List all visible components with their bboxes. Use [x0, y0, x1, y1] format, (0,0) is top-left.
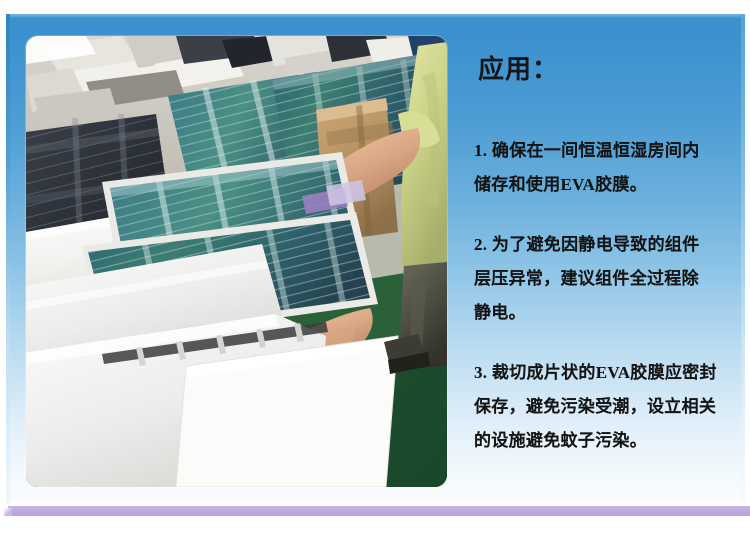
application-item-1: 1. 确保在一间恒温恒湿房间内 储存和使用EVA胶膜。	[474, 134, 734, 202]
panel-right-edge	[741, 14, 745, 503]
panel-top-highlight	[6, 14, 745, 18]
application-item-3-line-1: 3. 裁切成片状的EVA胶膜应密封	[474, 356, 734, 390]
application-item-2-line-3: 静电。	[474, 296, 734, 330]
application-item-2-line-2: 层压异常，建议组件全过程除	[474, 262, 734, 296]
panel-left-edge	[6, 14, 10, 503]
application-item-2-line-1: 2. 为了避免因静电导致的组件	[474, 228, 734, 262]
accent-divider-left-tip	[4, 508, 12, 516]
application-item-3-line-2: 保存，避免污染受潮，设立相关	[474, 390, 734, 424]
application-item-1-line-1: 1. 确保在一间恒温恒湿房间内	[474, 134, 734, 168]
page-title: 应用：	[478, 56, 734, 82]
application-item-2: 2. 为了避免因静电导致的组件 层压异常，建议组件全过程除 静电。	[474, 228, 734, 330]
product-detail-page: 应用： 1. 确保在一间恒温恒湿房间内 储存和使用EVA胶膜。 2. 为了避免因…	[0, 0, 750, 555]
application-item-1-line-2: 储存和使用EVA胶膜。	[474, 168, 734, 202]
factory-photo	[26, 36, 447, 487]
accent-divider-bar	[8, 506, 750, 516]
application-text-column: 应用： 1. 确保在一间恒温恒湿房间内 储存和使用EVA胶膜。 2. 为了避免因…	[472, 36, 734, 458]
application-item-3: 3. 裁切成片状的EVA胶膜应密封 保存，避免污染受潮，设立相关 的设施避免蚊子…	[474, 356, 734, 458]
application-item-3-line-3: 的设施避免蚊子污染。	[474, 424, 734, 458]
